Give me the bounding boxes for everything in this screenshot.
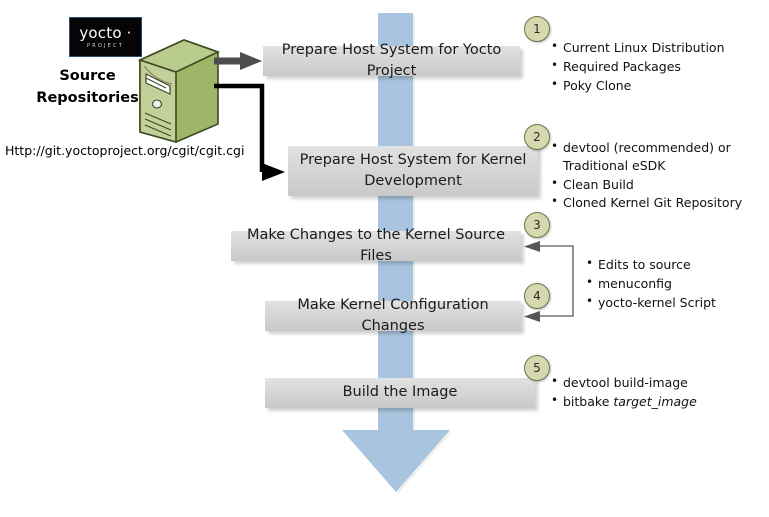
step-1-notes: Current Linux Distribution Required Pack…: [551, 39, 766, 95]
diagram-canvas: yocto · PROJECT Source Repositories Http…: [0, 0, 769, 517]
note-item: menuconfig: [586, 275, 766, 293]
note-item: Poky Clone: [551, 77, 766, 95]
step-box-5-label: Build the Image: [343, 382, 458, 403]
note-item: devtool (recommended) or Traditional eSD…: [551, 139, 766, 175]
step-box-3[interactable]: Make Changes to the Kernel Source Files: [231, 231, 521, 261]
step-box-5[interactable]: Build the Image: [265, 378, 535, 408]
note-item: Clean Build: [551, 176, 766, 194]
step-box-1[interactable]: Prepare Host System for Yocto Project: [263, 46, 520, 76]
step-3-4-shared-notes: Edits to source menuconfig yocto-kernel …: [586, 256, 766, 312]
step-badge-4: 4: [524, 283, 550, 309]
step-box-3-label: Make Changes to the Kernel Source Files: [241, 225, 511, 267]
step-box-2[interactable]: Prepare Host System for Kernel Developme…: [288, 146, 538, 196]
step-box-1-label: Prepare Host System for Yocto Project: [273, 40, 510, 82]
step-badge-1: 1: [524, 16, 550, 42]
step-badge-2: 2: [524, 124, 550, 150]
step-5-notes: devtool build-image bitbake target_image: [551, 374, 766, 412]
step-badge-3: 3: [524, 212, 550, 238]
note-item: Required Packages: [551, 58, 766, 76]
step-box-4[interactable]: Make Kernel Configuration Changes: [265, 301, 521, 331]
step-2-notes: devtool (recommended) or Traditional eSD…: [551, 139, 766, 213]
note-item: Edits to source: [586, 256, 766, 274]
step-box-2-label: Prepare Host System for Kernel Developme…: [300, 150, 527, 192]
step-badge-5: 5: [524, 355, 550, 381]
note-item: yocto-kernel Script: [586, 294, 766, 312]
note-item: bitbake target_image: [551, 393, 766, 411]
note-item: Current Linux Distribution: [551, 39, 766, 57]
note-item: devtool build-image: [551, 374, 766, 392]
step-box-4-label: Make Kernel Configuration Changes: [275, 295, 511, 337]
note-item: Cloned Kernel Git Repository: [551, 194, 766, 212]
